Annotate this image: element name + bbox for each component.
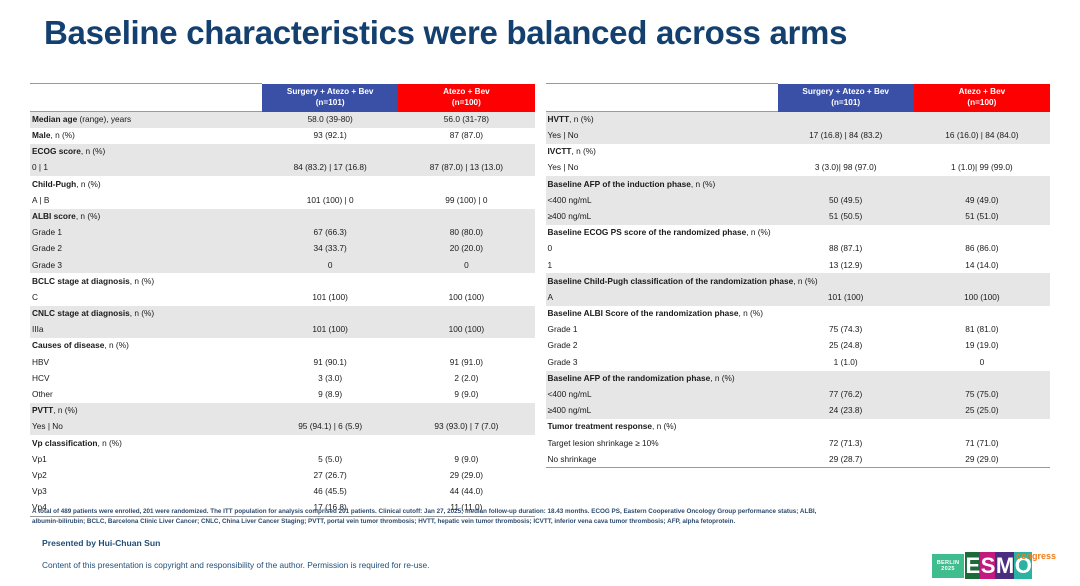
cell-arm-atezo-bev: 87 (87.0) | 13 (13.0): [398, 160, 534, 176]
table-row: Tumor treatment response, n (%): [546, 419, 1051, 435]
cell-arm-atezo-bev: 29 (29.0): [398, 468, 534, 484]
table-row: Target lesion shrinkage ≥ 10%72 (71.3)71…: [546, 435, 1051, 451]
cell-arm-atezo-bev: 49 (49.0): [914, 192, 1050, 208]
row-label-sub: ≥400 ng/mL: [546, 403, 778, 419]
cell-arm-atezo-bev: 1 (1.0)| 99 (99.0): [914, 160, 1050, 176]
tables-container: Surgery + Atezo + Bev (n=101) Atezo + Be…: [30, 83, 1050, 517]
cell-arm-surgery-atezo-bev: 3 (3.0): [262, 371, 398, 387]
table-row: 088 (87.1)86 (86.0): [546, 241, 1051, 257]
row-label-suffix: , n (%): [53, 405, 77, 415]
cell-arm-surgery-atezo-bev: 91 (90.1): [262, 354, 398, 370]
row-label-suffix: , n (%): [571, 146, 595, 156]
row-label-heading: CNLC stage at diagnosis, n (%): [30, 306, 262, 322]
row-label-heading: PVTT, n (%): [30, 403, 262, 419]
arm2-n: (n=100): [398, 98, 534, 108]
row-label-sub: Grade 1: [30, 225, 262, 241]
table-row: PVTT, n (%): [30, 403, 535, 419]
table-row: Baseline ALBI Score of the randomization…: [546, 306, 1051, 322]
row-label-sub: Grade 2: [30, 241, 262, 257]
baseline-characteristics-table-right: Surgery + Atezo + Bev (n=101) Atezo + Be…: [546, 83, 1051, 468]
row-label-suffix: , n (%): [76, 179, 100, 189]
cell-arm-surgery-atezo-bev: [778, 144, 914, 160]
cell-arm-atezo-bev: [398, 209, 534, 225]
cell-arm-surgery-atezo-bev: 1 (1.0): [778, 354, 914, 370]
esmo-congress-logo: BERLIN 2025 E S M O congress: [932, 551, 1050, 581]
row-label-sub: IIIa: [30, 322, 262, 338]
cell-arm-surgery-atezo-bev: [778, 112, 914, 128]
cell-arm-atezo-bev: 44 (44.0): [398, 484, 534, 500]
cell-arm-surgery-atezo-bev: [262, 273, 398, 289]
cell-arm-surgery-atezo-bev: 17 (16.8) | 84 (83.2): [778, 128, 914, 144]
row-label-heading: Tumor treatment response, n (%): [546, 419, 778, 435]
cell-arm-atezo-bev: 93 (93.0) | 7 (7.0): [398, 419, 534, 435]
cell-arm-atezo-bev: [398, 403, 534, 419]
cell-arm-surgery-atezo-bev: 72 (71.3): [778, 435, 914, 451]
row-label-text: CNLC stage at diagnosis: [32, 308, 130, 318]
cell-arm-surgery-atezo-bev: 3 (3.0)| 98 (97.0): [778, 160, 914, 176]
table-row: Vp15 (5.0)9 (9.0): [30, 451, 535, 467]
table-row: Vp classification, n (%): [30, 435, 535, 451]
row-label-heading: Median age (range), years: [30, 112, 262, 128]
cell-arm-atezo-bev: [398, 273, 534, 289]
table-row: HVTT, n (%): [546, 112, 1051, 128]
cell-arm-surgery-atezo-bev: 24 (23.8): [778, 403, 914, 419]
table-body-left: Median age (range), years58.0 (39-80)56.…: [30, 112, 535, 517]
row-label-heading: Causes of disease, n (%): [30, 338, 262, 354]
table-row: Grade 234 (33.7)20 (20.0): [30, 241, 535, 257]
row-label-suffix: , n (%): [691, 179, 715, 189]
cell-arm-surgery-atezo-bev: 29 (28.7): [778, 451, 914, 467]
row-label-sub: HCV: [30, 371, 262, 387]
slide-root: Baseline characteristics were balanced a…: [0, 0, 1080, 586]
logo-year: 2025: [941, 566, 955, 572]
table-row: Child-Pugh, n (%): [30, 176, 535, 192]
row-label-heading: Baseline ECOG PS score of the randomized…: [546, 225, 778, 241]
row-label-sub: Grade 3: [30, 257, 262, 273]
cell-arm-atezo-bev: 0: [914, 354, 1050, 370]
page-title: Baseline characteristics were balanced a…: [44, 14, 847, 52]
row-label-suffix: , n (%): [739, 308, 763, 318]
left-table-column: Surgery + Atezo + Bev (n=101) Atezo + Be…: [30, 83, 535, 517]
header-arm-surgery-atezo-bev-left: Surgery + Atezo + Bev (n=101): [262, 84, 398, 112]
table-row: Grade 225 (24.8)19 (19.0): [546, 338, 1051, 354]
row-label-sub: Target lesion shrinkage ≥ 10%: [546, 435, 778, 451]
cell-arm-surgery-atezo-bev: 46 (45.5): [262, 484, 398, 500]
table-row: ECOG score, n (%): [30, 144, 535, 160]
row-label-text: PVTT: [32, 405, 53, 415]
header-arm-surgery-atezo-bev-right: Surgery + Atezo + Bev (n=101): [778, 84, 914, 112]
logo-berlin-2025-badge: BERLIN 2025: [932, 554, 964, 578]
cell-arm-atezo-bev: 25 (25.0): [914, 403, 1050, 419]
cell-arm-atezo-bev: 9 (9.0): [398, 451, 534, 467]
row-label-suffix: , n (%): [793, 276, 817, 286]
cell-arm-atezo-bev: 81 (81.0): [914, 322, 1050, 338]
table-row: Baseline Child-Pugh classification of th…: [546, 273, 1051, 289]
cell-arm-surgery-atezo-bev: 58.0 (39-80): [262, 112, 398, 128]
cell-arm-atezo-bev: 14 (14.0): [914, 257, 1050, 273]
cell-arm-atezo-bev: 19 (19.0): [914, 338, 1050, 354]
row-label-suffix: , n (%): [97, 438, 121, 448]
row-label-text: IVCTT: [548, 146, 572, 156]
row-label-sub: <400 ng/mL: [546, 387, 778, 403]
row-label-sub: Vp3: [30, 484, 262, 500]
table-row: <400 ng/mL50 (49.5)49 (49.0): [546, 192, 1051, 208]
cell-arm-surgery-atezo-bev: [262, 144, 398, 160]
cell-arm-surgery-atezo-bev: 27 (26.7): [262, 468, 398, 484]
row-label-suffix: (range), years: [77, 114, 131, 124]
row-label-sub: C: [30, 290, 262, 306]
header-blank-right: [546, 84, 778, 112]
arm2-name: Atezo + Bev: [398, 87, 534, 97]
row-label-text: HVTT: [548, 114, 570, 124]
row-label-heading: ECOG score, n (%): [30, 144, 262, 160]
cell-arm-surgery-atezo-bev: 93 (92.1): [262, 128, 398, 144]
row-label-heading: Baseline AFP of the induction phase, n (…: [546, 176, 778, 192]
cell-arm-surgery-atezo-bev: 75 (74.3): [778, 322, 914, 338]
table-row: Yes | No3 (3.0)| 98 (97.0)1 (1.0)| 99 (9…: [546, 160, 1051, 176]
table-header-right: Surgery + Atezo + Bev (n=101) Atezo + Be…: [546, 84, 1051, 112]
cell-arm-surgery-atezo-bev: 88 (87.1): [778, 241, 914, 257]
footnote-line-2: albumin-bilirubin; BCLC, Barcelona Clini…: [32, 517, 1048, 527]
cell-arm-surgery-atezo-bev: 34 (33.7): [262, 241, 398, 257]
row-label-text: Vp classification: [32, 438, 97, 448]
cell-arm-atezo-bev: 51 (51.0): [914, 209, 1050, 225]
cell-arm-atezo-bev: 0: [398, 257, 534, 273]
cell-arm-atezo-bev: [398, 144, 534, 160]
cell-arm-atezo-bev: 16 (16.0) | 84 (84.0): [914, 128, 1050, 144]
cell-arm-surgery-atezo-bev: 51 (50.5): [778, 209, 914, 225]
cell-arm-atezo-bev: [914, 419, 1050, 435]
table-row: Grade 175 (74.3)81 (81.0): [546, 322, 1051, 338]
table-row: Median age (range), years58.0 (39-80)56.…: [30, 112, 535, 128]
cell-arm-atezo-bev: [914, 225, 1050, 241]
arm1-n: (n=101): [778, 98, 914, 108]
cell-arm-atezo-bev: 29 (29.0): [914, 451, 1050, 467]
footnote-line-1: A total of 489 patients were enrolled, 2…: [32, 507, 1048, 517]
cell-arm-atezo-bev: 80 (80.0): [398, 225, 534, 241]
table-row: <400 ng/mL77 (76.2)75 (75.0): [546, 387, 1051, 403]
table-row: Grade 167 (66.3)80 (80.0): [30, 225, 535, 241]
row-label-suffix: , n (%): [746, 227, 770, 237]
row-label-text: ALBI score: [32, 211, 76, 221]
row-label-sub: 0: [546, 241, 778, 257]
table-row: Grade 300: [30, 257, 535, 273]
cell-arm-atezo-bev: 91 (91.0): [398, 354, 534, 370]
cell-arm-surgery-atezo-bev: 77 (76.2): [778, 387, 914, 403]
row-label-suffix: , n (%): [710, 373, 734, 383]
right-table-column: Surgery + Atezo + Bev (n=101) Atezo + Be…: [546, 83, 1051, 517]
table-row: HBV91 (90.1)91 (91.0): [30, 354, 535, 370]
table-row: Other9 (8.9)9 (9.0): [30, 387, 535, 403]
cell-arm-surgery-atezo-bev: [262, 435, 398, 451]
footnote: A total of 489 patients were enrolled, 2…: [32, 507, 1048, 527]
row-label-text: Child-Pugh: [32, 179, 76, 189]
row-label-text: Baseline AFP of the induction phase: [548, 179, 691, 189]
table-row: Baseline AFP of the randomization phase,…: [546, 371, 1051, 387]
row-label-heading: IVCTT, n (%): [546, 144, 778, 160]
row-label-text: Baseline Child-Pugh classification of th…: [548, 276, 794, 286]
cell-arm-atezo-bev: 100 (100): [914, 290, 1050, 306]
cell-arm-surgery-atezo-bev: [262, 338, 398, 354]
row-label-sub: Vp1: [30, 451, 262, 467]
row-label-heading: ALBI score, n (%): [30, 209, 262, 225]
cell-arm-atezo-bev: [398, 306, 534, 322]
cell-arm-atezo-bev: [398, 338, 534, 354]
cell-arm-surgery-atezo-bev: 101 (100): [262, 322, 398, 338]
cell-arm-surgery-atezo-bev: [778, 225, 914, 241]
row-label-heading: Baseline Child-Pugh classification of th…: [546, 273, 778, 289]
copyright-notice: Content of this presentation is copyrigh…: [42, 560, 429, 570]
logo-congress-word: congress: [1016, 551, 1056, 561]
table-body-right: HVTT, n (%)Yes | No17 (16.8) | 84 (83.2)…: [546, 112, 1051, 468]
table-row: Baseline AFP of the induction phase, n (…: [546, 176, 1051, 192]
cell-arm-atezo-bev: 99 (100) | 0: [398, 192, 534, 208]
row-label-sub: No shrinkage: [546, 451, 778, 467]
table-row: Vp227 (26.7)29 (29.0): [30, 468, 535, 484]
cell-arm-atezo-bev: 20 (20.0): [398, 241, 534, 257]
row-label-text: BCLC stage at diagnosis: [32, 276, 130, 286]
cell-arm-surgery-atezo-bev: [262, 176, 398, 192]
table-row: IIIa101 (100)100 (100): [30, 322, 535, 338]
table-row: BCLC stage at diagnosis, n (%): [30, 273, 535, 289]
cell-arm-surgery-atezo-bev: 5 (5.0): [262, 451, 398, 467]
table-row: Causes of disease, n (%): [30, 338, 535, 354]
row-label-sub: Other: [30, 387, 262, 403]
header-blank-left: [30, 84, 262, 112]
row-label-sub: Grade 2: [546, 338, 778, 354]
cell-arm-surgery-atezo-bev: 13 (12.9): [778, 257, 914, 273]
table-header-left: Surgery + Atezo + Bev (n=101) Atezo + Be…: [30, 84, 535, 112]
row-label-text: Causes of disease: [32, 340, 104, 350]
row-label-sub: Yes | No: [30, 419, 262, 435]
row-label-suffix: , n (%): [652, 421, 676, 431]
row-label-sub: ≥400 ng/mL: [546, 209, 778, 225]
header-arm-atezo-bev-right: Atezo + Bev (n=100): [914, 84, 1050, 112]
arm2-n: (n=100): [914, 98, 1050, 108]
arm2-name: Atezo + Bev: [914, 87, 1050, 97]
cell-arm-surgery-atezo-bev: [778, 371, 914, 387]
cell-arm-surgery-atezo-bev: 101 (100): [778, 290, 914, 306]
row-label-heading: Baseline ALBI Score of the randomization…: [546, 306, 778, 322]
row-label-text: Male: [32, 130, 50, 140]
table-row: A101 (100)100 (100): [546, 290, 1051, 306]
row-label-sub: 1: [546, 257, 778, 273]
arm1-n: (n=101): [262, 98, 398, 108]
cell-arm-surgery-atezo-bev: [778, 306, 914, 322]
cell-arm-surgery-atezo-bev: 101 (100) | 0: [262, 192, 398, 208]
table-row: Vp346 (45.5)44 (44.0): [30, 484, 535, 500]
table-row: No shrinkage29 (28.7)29 (29.0): [546, 451, 1051, 467]
arm1-name: Surgery + Atezo + Bev: [262, 87, 398, 97]
cell-arm-surgery-atezo-bev: 25 (24.8): [778, 338, 914, 354]
cell-arm-surgery-atezo-bev: 50 (49.5): [778, 192, 914, 208]
cell-arm-surgery-atezo-bev: 67 (66.3): [262, 225, 398, 241]
logo-letter-s: S: [980, 552, 995, 579]
cell-arm-surgery-atezo-bev: 0: [262, 257, 398, 273]
cell-arm-atezo-bev: 2 (2.0): [398, 371, 534, 387]
row-label-text: ECOG score: [32, 146, 81, 156]
table-row: ≥400 ng/mL24 (23.8)25 (25.0): [546, 403, 1051, 419]
cell-arm-atezo-bev: 71 (71.0): [914, 435, 1050, 451]
table-row: HCV3 (3.0)2 (2.0): [30, 371, 535, 387]
table-row: Grade 31 (1.0)0: [546, 354, 1051, 370]
presented-by: Presented by Hui-Chuan Sun: [42, 538, 160, 548]
cell-arm-surgery-atezo-bev: [778, 419, 914, 435]
cell-arm-atezo-bev: [914, 371, 1050, 387]
cell-arm-atezo-bev: 87 (87.0): [398, 128, 534, 144]
cell-arm-surgery-atezo-bev: 101 (100): [262, 290, 398, 306]
table-row: C101 (100)100 (100): [30, 290, 535, 306]
cell-arm-atezo-bev: 56.0 (31-78): [398, 112, 534, 128]
row-label-sub: Yes | No: [546, 160, 778, 176]
row-label-sub: A | B: [30, 192, 262, 208]
cell-arm-surgery-atezo-bev: [778, 176, 914, 192]
table-row: 0 | 184 (83.2) | 17 (16.8)87 (87.0) | 13…: [30, 160, 535, 176]
cell-arm-atezo-bev: [914, 273, 1050, 289]
cell-arm-surgery-atezo-bev: [262, 209, 398, 225]
cell-arm-atezo-bev: [914, 144, 1050, 160]
table-row: Yes | No17 (16.8) | 84 (83.2)16 (16.0) |…: [546, 128, 1051, 144]
cell-arm-atezo-bev: [914, 306, 1050, 322]
row-label-sub: HBV: [30, 354, 262, 370]
cell-arm-atezo-bev: [914, 176, 1050, 192]
row-label-sub: A: [546, 290, 778, 306]
row-label-suffix: , n (%): [50, 130, 74, 140]
logo-letter-m: M: [995, 552, 1014, 579]
cell-arm-atezo-bev: 100 (100): [398, 322, 534, 338]
logo-letter-e: E: [965, 552, 980, 579]
table-row: ≥400 ng/mL51 (50.5)51 (51.0): [546, 209, 1051, 225]
cell-arm-atezo-bev: 100 (100): [398, 290, 534, 306]
table-row: Male, n (%)93 (92.1)87 (87.0): [30, 128, 535, 144]
row-label-text: Median age: [32, 114, 77, 124]
cell-arm-atezo-bev: [398, 435, 534, 451]
table-row: ALBI score, n (%): [30, 209, 535, 225]
row-label-suffix: , n (%): [130, 308, 154, 318]
header-arm-atezo-bev-left: Atezo + Bev (n=100): [398, 84, 534, 112]
cell-arm-atezo-bev: 75 (75.0): [914, 387, 1050, 403]
table-row: A | B101 (100) | 099 (100) | 0: [30, 192, 535, 208]
row-label-suffix: , n (%): [81, 146, 105, 156]
table-row: Baseline ECOG PS score of the randomized…: [546, 225, 1051, 241]
row-label-suffix: , n (%): [76, 211, 100, 221]
arm1-name: Surgery + Atezo + Bev: [778, 87, 914, 97]
row-label-text: Baseline AFP of the randomization phase: [548, 373, 711, 383]
table-row: 113 (12.9)14 (14.0): [546, 257, 1051, 273]
row-label-heading: Child-Pugh, n (%): [30, 176, 262, 192]
row-label-suffix: , n (%): [130, 276, 154, 286]
cell-arm-atezo-bev: [914, 112, 1050, 128]
row-label-sub: 0 | 1: [30, 160, 262, 176]
row-label-heading: BCLC stage at diagnosis, n (%): [30, 273, 262, 289]
row-label-heading: Vp classification, n (%): [30, 435, 262, 451]
baseline-characteristics-table-left: Surgery + Atezo + Bev (n=101) Atezo + Be…: [30, 83, 535, 517]
row-label-text: Tumor treatment response: [548, 421, 653, 431]
cell-arm-atezo-bev: 86 (86.0): [914, 241, 1050, 257]
row-label-heading: Baseline AFP of the randomization phase,…: [546, 371, 778, 387]
cell-arm-surgery-atezo-bev: [262, 306, 398, 322]
cell-arm-surgery-atezo-bev: 95 (94.1) | 6 (5.9): [262, 419, 398, 435]
row-label-heading: Male, n (%): [30, 128, 262, 144]
cell-arm-atezo-bev: [398, 176, 534, 192]
row-label-suffix: , n (%): [569, 114, 593, 124]
table-row: Yes | No95 (94.1) | 6 (5.9)93 (93.0) | 7…: [30, 419, 535, 435]
row-label-sub: Yes | No: [546, 128, 778, 144]
row-label-text: Baseline ECOG PS score of the randomized…: [548, 227, 747, 237]
cell-arm-surgery-atezo-bev: 9 (8.9): [262, 387, 398, 403]
row-label-sub: <400 ng/mL: [546, 192, 778, 208]
row-label-sub: Grade 3: [546, 354, 778, 370]
row-label-sub: Grade 1: [546, 322, 778, 338]
row-label-heading: HVTT, n (%): [546, 112, 778, 128]
table-row: CNLC stage at diagnosis, n (%): [30, 306, 535, 322]
cell-arm-surgery-atezo-bev: [262, 403, 398, 419]
cell-arm-surgery-atezo-bev: 84 (83.2) | 17 (16.8): [262, 160, 398, 176]
row-label-sub: Vp2: [30, 468, 262, 484]
cell-arm-atezo-bev: 9 (9.0): [398, 387, 534, 403]
row-label-suffix: , n (%): [104, 340, 128, 350]
table-row: IVCTT, n (%): [546, 144, 1051, 160]
row-label-text: Baseline ALBI Score of the randomization…: [548, 308, 739, 318]
